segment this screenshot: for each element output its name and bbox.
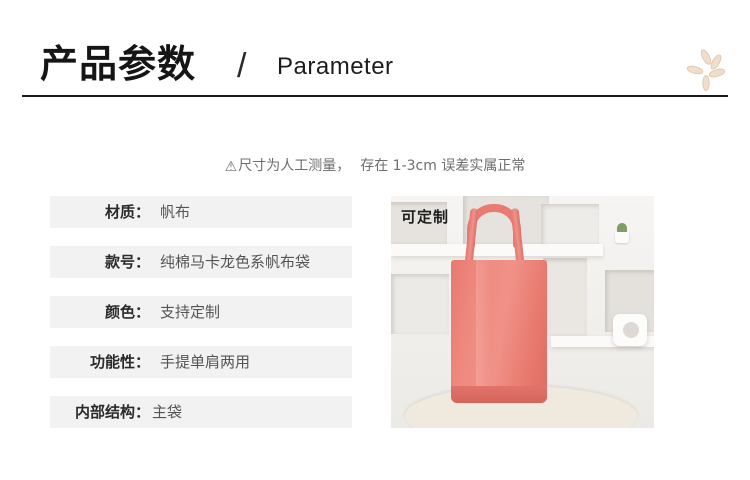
product-parameter-page: 产品参数 / Parameter ⚠尺寸为人工测量，存在 1-3cm 误差实属正… <box>0 0 750 480</box>
measurement-notice: ⚠尺寸为人工测量，存在 1-3cm 误差实属正常 <box>0 155 750 178</box>
spec-label: 内部结构： <box>50 396 150 428</box>
spec-label: 颜色： <box>50 296 150 328</box>
spec-row-internal-structure: 内部结构： 主袋 <box>50 396 352 428</box>
notice-text-secondary: 存在 1-3cm 误差实属正常 <box>360 158 525 174</box>
ring-vase-hole <box>623 322 639 338</box>
floral-leaf-ornament-icon <box>682 48 730 94</box>
spec-value: 帆布 <box>160 196 190 228</box>
page-header: 产品参数 / Parameter <box>0 38 750 98</box>
spec-label: 款号： <box>50 246 150 278</box>
shelf-niche <box>541 204 599 244</box>
page-title-cn: 产品参数 <box>40 38 196 90</box>
spec-row-model: 款号： 纯棉马卡龙色系帆布袋 <box>50 246 352 278</box>
product-photo: 可定制 <box>391 196 654 428</box>
spec-label: 材质： <box>50 196 150 228</box>
shelf-niche <box>543 258 587 336</box>
cactus-pot <box>615 232 629 243</box>
warning-triangle-icon: ⚠ <box>225 156 238 178</box>
page-title-en: Parameter <box>277 47 394 87</box>
spec-table: 材质： 帆布 款号： 纯棉马卡龙色系帆布袋 颜色： 支持定制 功能性： 手提单肩… <box>50 196 352 428</box>
tote-bag-body <box>451 260 547 402</box>
spec-row-color: 颜色： 支持定制 <box>50 296 352 328</box>
spec-value: 支持定制 <box>160 296 220 328</box>
header-divider-rule <box>22 95 728 97</box>
spec-row-functionality: 功能性： 手提单肩两用 <box>50 346 352 378</box>
spec-value: 手提单肩两用 <box>160 346 250 378</box>
title-separator: / <box>237 42 246 90</box>
shelf-niche <box>391 274 449 334</box>
spec-label: 功能性： <box>50 346 150 378</box>
spec-row-material: 材质： 帆布 <box>50 196 352 228</box>
customizable-badge: 可定制 <box>401 207 449 227</box>
tote-bag-bottom-fold <box>451 386 547 403</box>
spec-value: 主袋 <box>152 396 182 428</box>
spec-value: 纯棉马卡龙色系帆布袋 <box>160 246 310 278</box>
notice-text-primary: 尺寸为人工测量， <box>238 158 350 174</box>
